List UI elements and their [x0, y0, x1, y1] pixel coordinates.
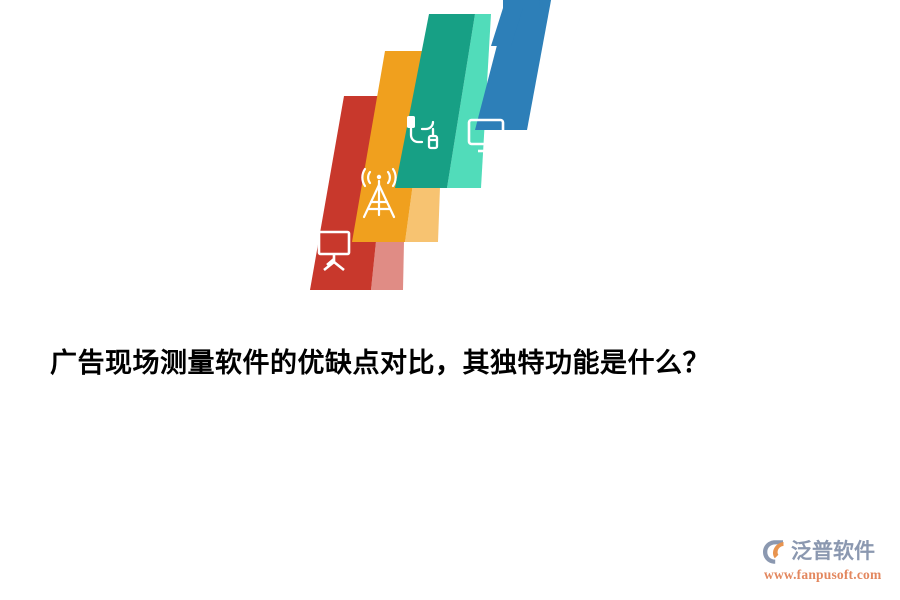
page-title: 广告现场测量软件的优缺点对比，其独特功能是什么？: [50, 344, 860, 382]
hero-graphic: [295, 18, 565, 308]
watermark-brand-name: 泛普软件: [791, 539, 875, 565]
watermark-logo-row: 泛普软件: [762, 538, 875, 566]
watermark-logo: 泛普软件 www.fanpusoft.com: [762, 538, 892, 586]
fanpu-logo-mark-icon: [762, 539, 788, 565]
watermark-url: www.fanpusoft.com: [764, 567, 881, 583]
